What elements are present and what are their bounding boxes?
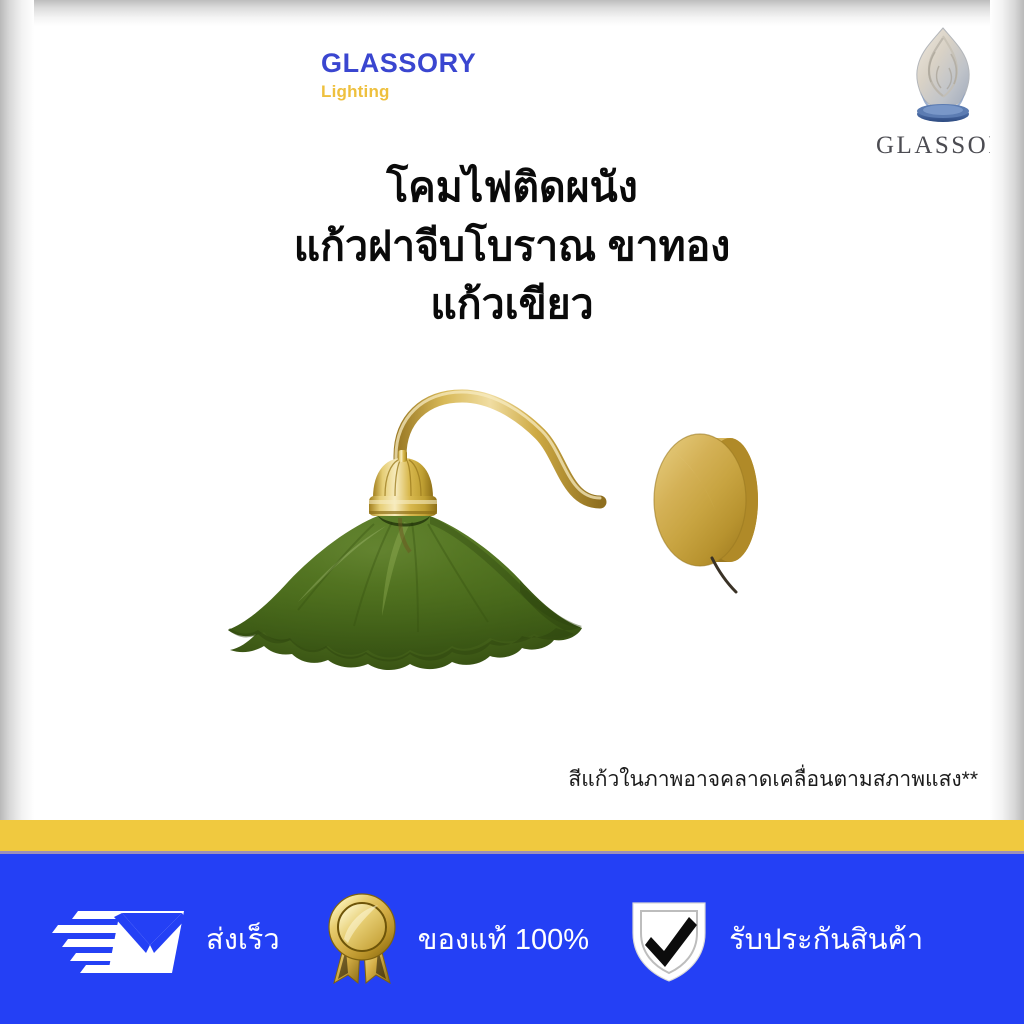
product-image xyxy=(0,330,1024,760)
fast-shipping-envelope-icon xyxy=(34,901,184,977)
title-line-1: โคมไฟติดผนัง xyxy=(0,158,1024,217)
title-line-2: แก้วฝาจีบโบราณ ขาทอง xyxy=(0,217,1024,276)
yellow-accent-band xyxy=(0,820,1024,853)
product-advertisement-poster: GLASSORY Lighting xyxy=(0,0,1024,1024)
band-divider xyxy=(0,851,1024,854)
brand-wordmark-sub: Lighting xyxy=(321,83,476,100)
brand-logo-name: GLASSORY xyxy=(876,132,1018,160)
trust-badge-warranty: รับประกันสินค้า xyxy=(627,853,923,1024)
trust-badge-label-warranty: รับประกันสินค้า xyxy=(729,916,923,962)
trust-badges-banner: ส่งเร็ว xyxy=(0,853,1024,1024)
trust-badge-label-genuine: ของแท้ 100% xyxy=(418,916,589,962)
glass-flame-sculpture-icon xyxy=(883,22,1003,130)
trust-badge-label-fast-shipping: ส่งเร็ว xyxy=(206,916,280,962)
brand-wordmark: GLASSORY Lighting xyxy=(321,50,476,100)
brass-gooseneck-wall-sconce-green-ruffled-glass-shade-icon xyxy=(0,330,1024,760)
brand-wordmark-main: GLASSORY xyxy=(321,50,476,77)
shield-check-icon xyxy=(627,893,711,985)
gold-award-ribbon-icon xyxy=(324,891,400,987)
title-line-3: แก้วเขียว xyxy=(0,275,1024,334)
trust-badge-genuine: ของแท้ 100% xyxy=(324,853,589,1024)
color-disclaimer-text: สีแก้วในภาพอาจคลาดเคลื่อนตามสภาพแสง** xyxy=(568,763,978,796)
page-title: โคมไฟติดผนัง แก้วฝาจีบโบราณ ขาทอง แก้วเข… xyxy=(0,158,1024,334)
brand-logo: GLASSORY xyxy=(868,22,1018,160)
trust-badge-fast-shipping: ส่งเร็ว xyxy=(34,853,280,1024)
